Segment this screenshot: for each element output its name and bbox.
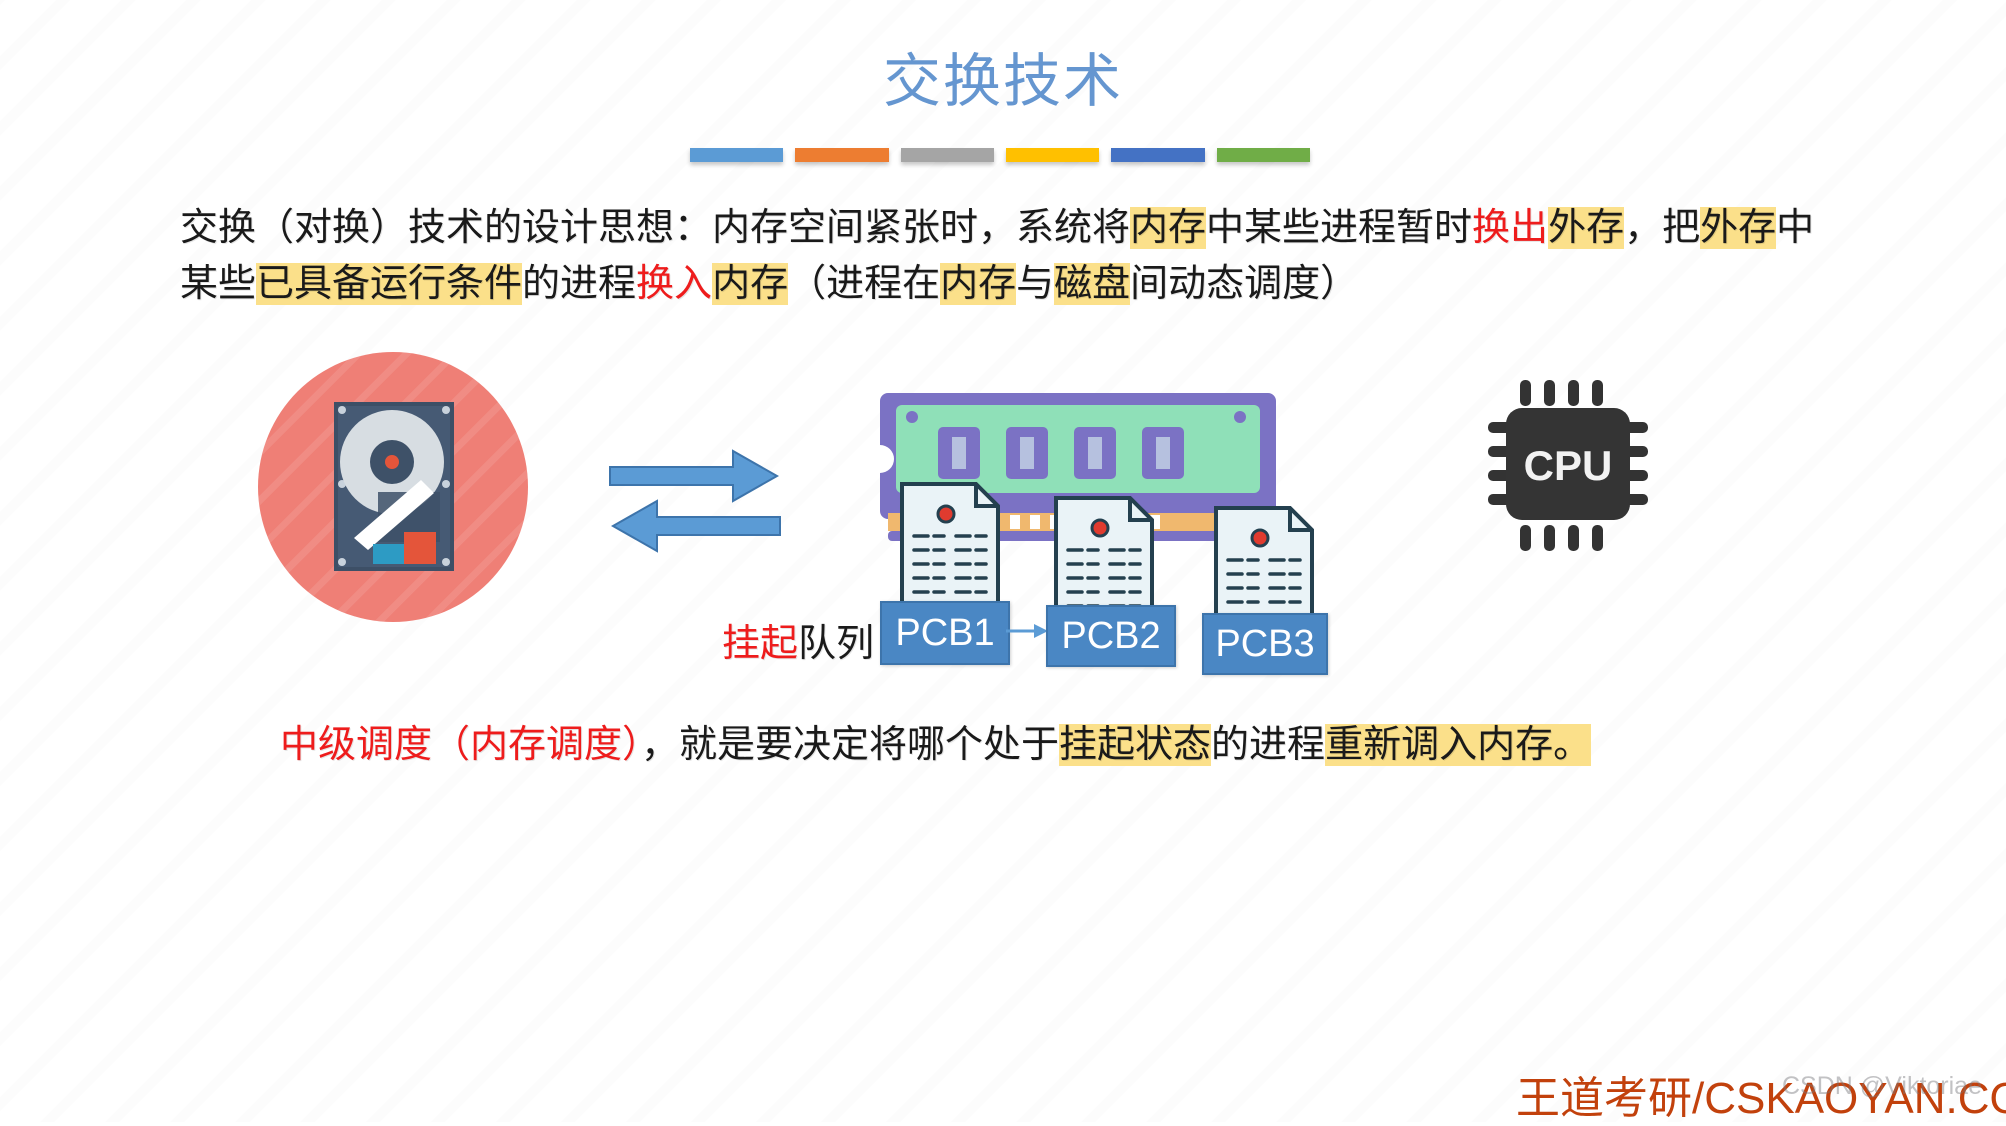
queue-label-black: 队列 [798,623,874,665]
text-segment: ，把 [1624,207,1700,249]
text-segment: 挂起状态 [1059,724,1211,766]
title-bar-1 [690,148,783,162]
text-segment: 内存 [712,263,788,305]
csdn-watermark: CSDN @Viktoriae [1782,1072,1982,1101]
swap-arrows-glyph [605,445,785,565]
title-bar-3 [901,148,994,162]
text-segment: ，就是要决定将哪个处于 [641,724,1059,766]
cpu-label: CPU [1524,442,1613,489]
pcb-link-arrow [1006,620,1048,642]
pcb-box-3[interactable]: PCB3 [1202,613,1328,675]
title-bar-6 [1217,148,1310,162]
text-segment: 中某些进程暂时 [1206,207,1472,249]
title-bar-2 [795,148,888,162]
text-segment: 内存 [1130,207,1206,249]
hard-disk-icon [258,352,528,622]
body-paragraph: 交换（对换）技术的设计思想：内存空间紧张时，系统将内存中某些进程暂时换出外存，把… [180,200,1840,312]
brand-cn-text: 王道考研 [1516,1074,1692,1123]
cpu-icon: CPU [1488,378,1648,553]
text-segment: （进程在 [788,263,940,305]
text-segment: 与 [1016,263,1054,305]
text-segment: 换入 [636,263,712,305]
text-segment: 换出 [1472,207,1548,249]
text-segment: 交换（对换）技术的设计思想：内存空间紧张时，系统将 [180,207,1130,249]
title-divider-bars [690,148,1310,162]
cpu-glyph: CPU [1488,378,1648,553]
pcb-box-2[interactable]: PCB2 [1046,605,1176,667]
pcb-box-1[interactable]: PCB1 [880,601,1010,665]
swap-arrows [605,445,785,565]
text-segment: 外存 [1700,207,1776,249]
arrow-left-icon [613,501,780,551]
text-segment: 外存 [1548,207,1624,249]
text-segment: 中级调度（内存调度） [280,724,641,766]
page-title: 交换技术 [0,50,2006,114]
text-segment: 的进程 [1211,724,1325,766]
queue-label-red: 挂起 [722,623,798,665]
text-segment: 已具备运行条件 [256,263,522,305]
arrow-right-icon [610,451,777,501]
title-bar-4 [1006,148,1099,162]
title-bar-5 [1111,148,1204,162]
text-segment: 内存 [940,263,1016,305]
conclusion-text: 中级调度（内存调度），就是要决定将哪个处于挂起状态的进程重新调入内存。 [280,718,1680,772]
queue-label: 挂起队列 [722,612,874,667]
text-segment: 的进程 [522,263,636,305]
text-segment: 磁盘 [1054,263,1130,305]
arrow-right-icon [1006,620,1048,642]
text-segment: 重新调入内存。 [1325,724,1591,766]
hard-disk-glyph [258,352,528,622]
text-segment: 间动态调度） [1130,263,1358,305]
